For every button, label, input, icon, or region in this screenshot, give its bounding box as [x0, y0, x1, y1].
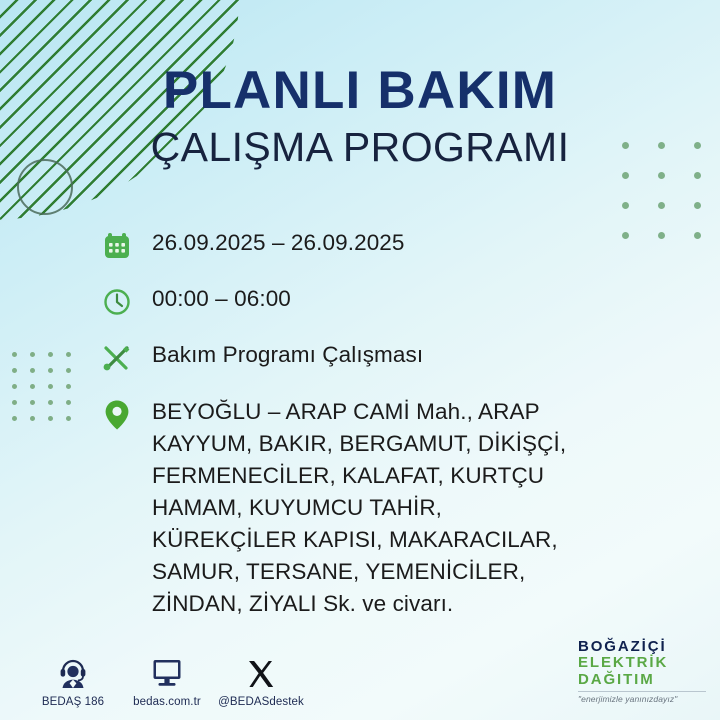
outage-details: 26.09.2025 – 26.09.2025 00:00 – 06:00 [99, 228, 599, 640]
poster-canvas: PLANLI BAKIM ÇALIŞMA PROGRAMI 26.09.2025… [0, 0, 720, 720]
calendar-icon [99, 229, 135, 263]
bedas-logo: BOĞAZİÇİ ELEKTRİK DAĞITIM "enerjimizle y… [578, 639, 706, 704]
address-line: KAYYUM, BAKIR, BERGAMUT, DİKİŞÇİ, [152, 428, 566, 460]
address-line: KÜREKÇİLER KAPISI, MAKARACILAR, [152, 524, 566, 556]
contact-x-label: @BEDASdestek [216, 696, 306, 708]
page-subtitle: ÇALIŞMA PROGRAMI [0, 122, 720, 173]
contact-website[interactable]: bedas.com.tr [122, 653, 212, 708]
date-range-value: 26.09.2025 – 26.09.2025 [152, 228, 405, 258]
location-pin-icon [99, 398, 135, 432]
address-line: HAMAM, KUYUMCU TAHİR, [152, 492, 566, 524]
contact-x-social[interactable]: @BEDASdestek [216, 653, 306, 708]
address-line: BEYOĞLU – ARAP CAMİ Mah., ARAP [152, 396, 566, 428]
dot-grid-left-decoration [12, 352, 84, 432]
contact-phone-label: BEDAŞ 186 [28, 696, 118, 708]
detail-row-date: 26.09.2025 – 26.09.2025 [99, 228, 599, 263]
location-value: BEYOĞLU – ARAP CAMİ Mah., ARAP KAYYUM, B… [152, 396, 566, 620]
page-title: PLANLI BAKIM [0, 64, 720, 118]
logo-line-bogazici: BOĞAZİÇİ [578, 639, 706, 656]
clock-icon [99, 285, 135, 319]
contact-phone[interactable]: BEDAŞ 186 [28, 653, 118, 708]
footer-contacts: BEDAŞ 186 bedas.com.tr @BEDASdestek [28, 653, 310, 708]
logo-line-dagitim: DAĞITIM [578, 672, 706, 689]
headset-support-icon [28, 653, 118, 689]
address-line: ZİNDAN, ZİYALI Sk. ve civarı. [152, 588, 566, 620]
address-line: FERMENECİLER, KALAFAT, KURTÇU [152, 460, 566, 492]
work-type-value: Bakım Programı Çalışması [152, 340, 423, 370]
monitor-icon [122, 653, 212, 689]
page-title-block: PLANLI BAKIM ÇALIŞMA PROGRAMI [0, 64, 720, 173]
detail-row-work-type: Bakım Programı Çalışması [99, 340, 599, 375]
logo-line-elektrik: ELEKTRİK [578, 655, 706, 672]
time-range-value: 00:00 – 06:00 [152, 284, 291, 314]
tools-icon [99, 341, 135, 375]
detail-row-time: 00:00 – 06:00 [99, 284, 599, 319]
detail-row-location: BEYOĞLU – ARAP CAMİ Mah., ARAP KAYYUM, B… [99, 396, 599, 620]
x-twitter-icon [216, 653, 306, 689]
contact-website-label: bedas.com.tr [122, 696, 212, 708]
logo-tagline: "enerjimizle yanınızdayız" [578, 691, 706, 704]
address-line: SAMUR, TERSANE, YEMENİCİLER, [152, 556, 566, 588]
